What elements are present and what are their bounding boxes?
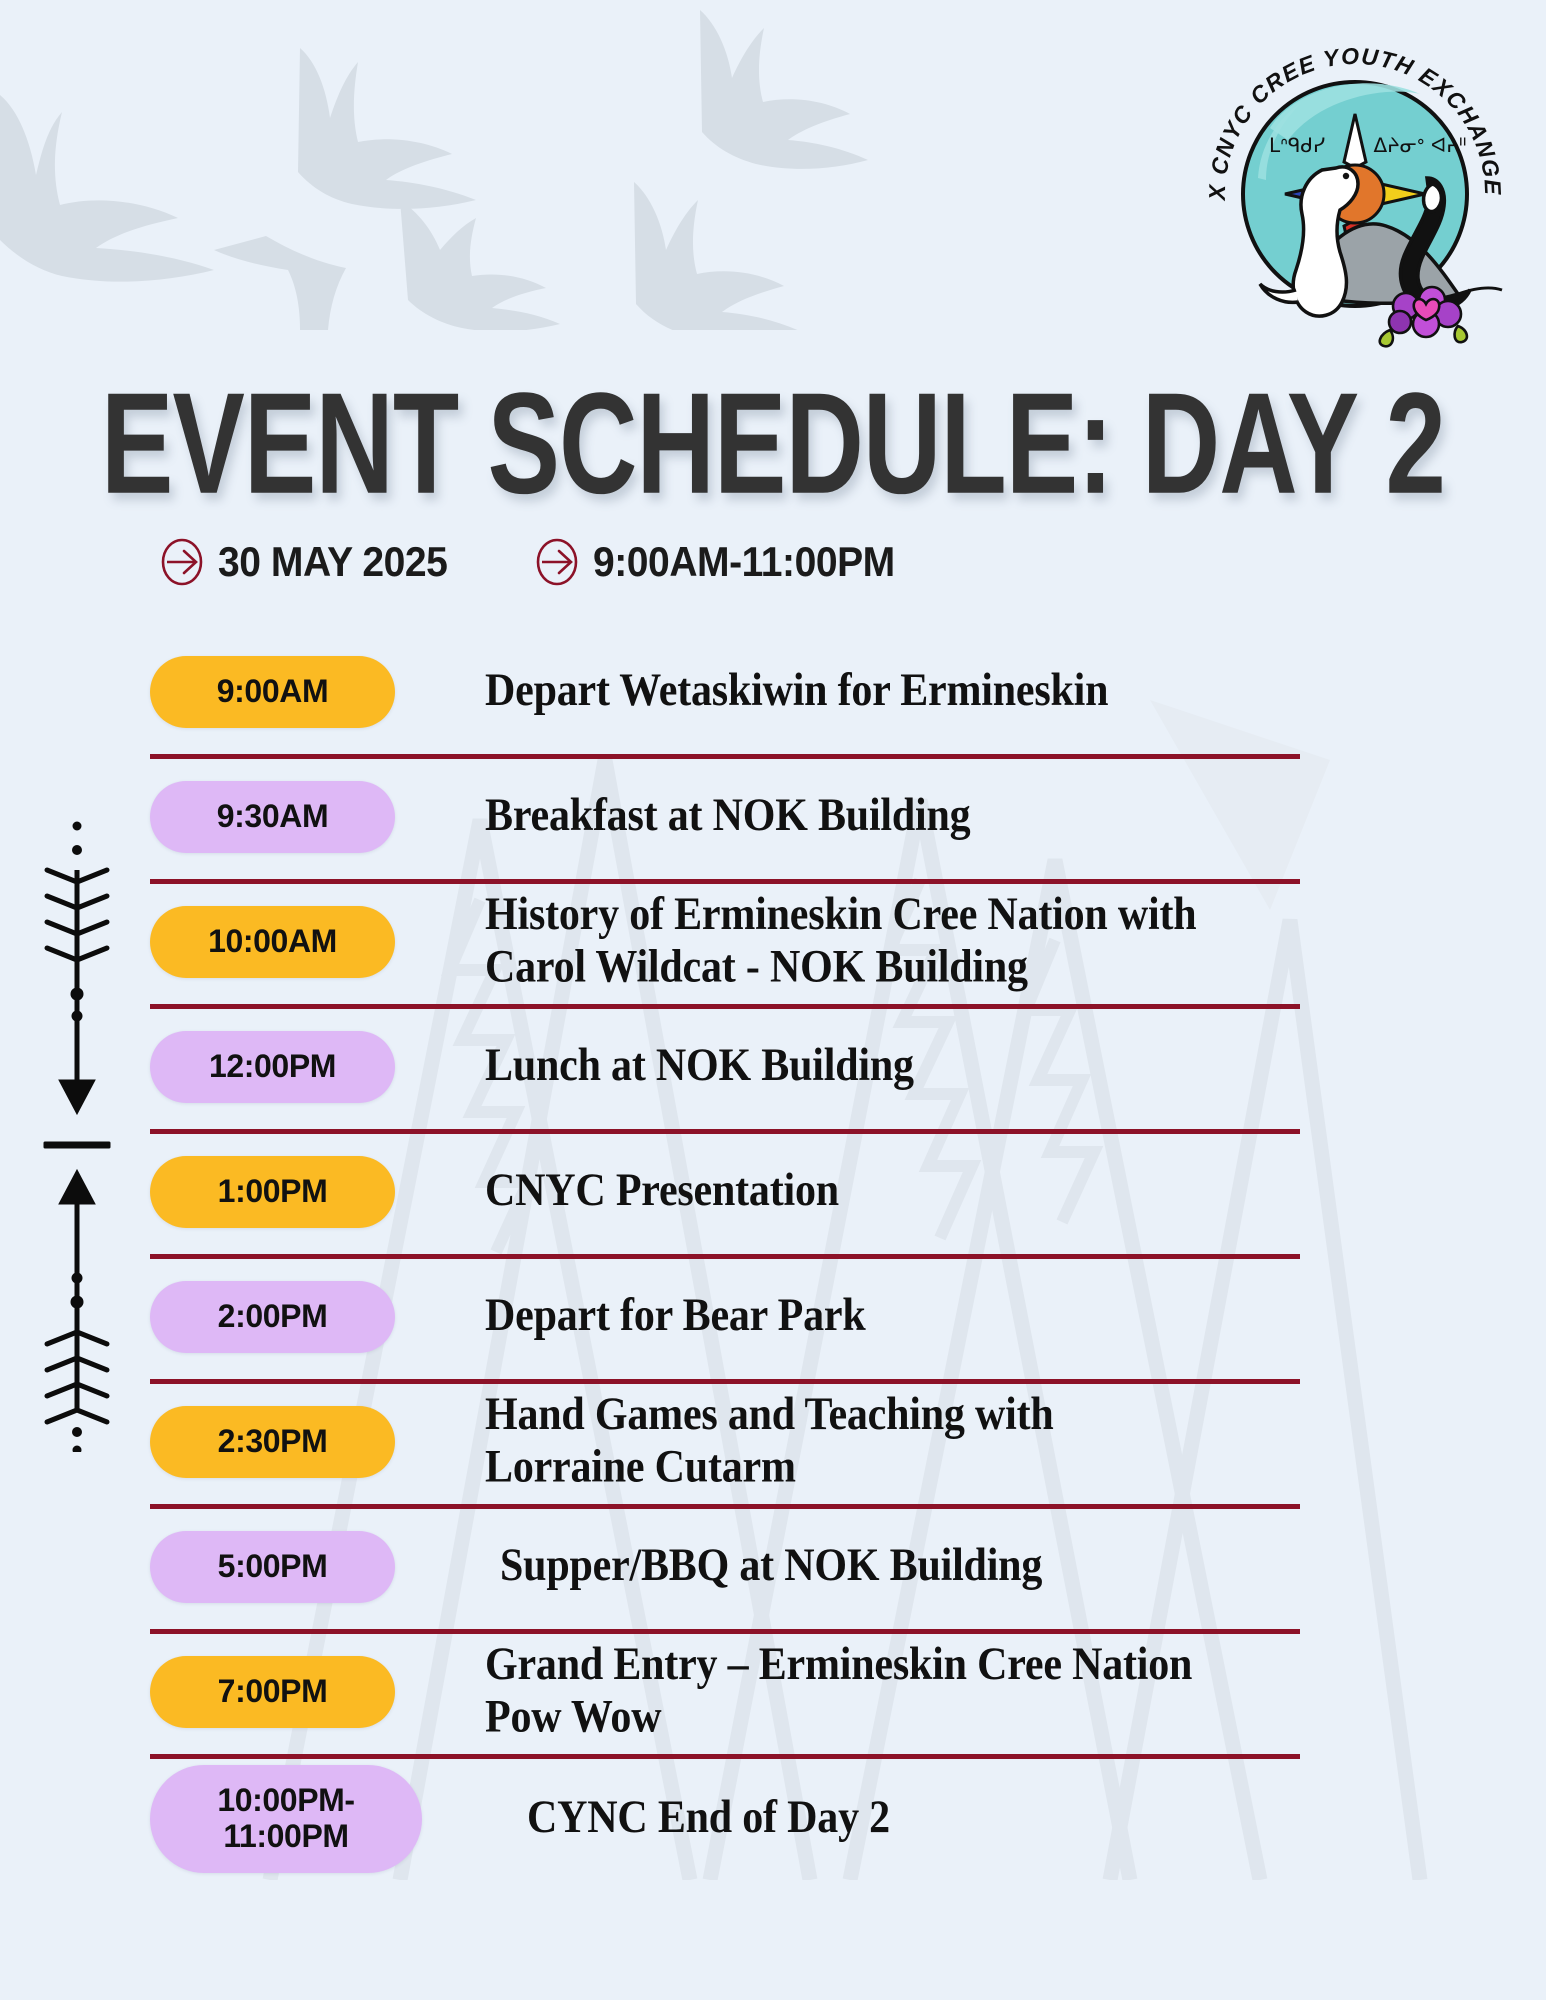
event-description: Breakfast at NOK Building <box>485 791 1300 844</box>
event-date-label: 30 MAY 2025 <box>218 538 447 586</box>
event-description: CYNC End of Day 2 <box>527 1792 1300 1845</box>
time-pill: 9:00AM <box>150 656 395 728</box>
time-pill: 10:00PM- 11:00PM <box>150 1765 422 1873</box>
time-pill: 1:00PM <box>150 1156 395 1228</box>
row-separator <box>150 1004 1300 1009</box>
schedule-row-inner: 2:30PMHand Games and Teaching with Lorra… <box>150 1390 1300 1494</box>
event-description: Depart Wetaskiwin for Ermineskin <box>485 666 1300 719</box>
event-meta-row: 30 MAY 2025 9:00AM-11:00PM <box>158 538 917 586</box>
row-separator <box>150 879 1300 884</box>
schedule-row-inner: 1:00PMCNYC Presentation <box>150 1140 1300 1244</box>
schedule-row: 9:00AMDepart Wetaskiwin for Ermineskin <box>150 640 1300 759</box>
flying-birds-silhouettes <box>0 0 900 330</box>
schedule-row: 5:00PMSupper/BBQ at NOK Building <box>150 1515 1300 1634</box>
event-description: Supper/BBQ at NOK Building <box>500 1541 1300 1594</box>
time-pill: 5:00PM <box>150 1531 395 1603</box>
schedule-row-inner: 10:00AMHistory of Ermineskin Cree Nation… <box>150 890 1300 994</box>
row-separator <box>150 1379 1300 1384</box>
row-separator <box>150 1504 1300 1509</box>
row-separator <box>150 1629 1300 1634</box>
double-arrow-ornament <box>22 812 132 1452</box>
event-date: 30 MAY 2025 <box>158 538 465 586</box>
schedule-row-inner: 5:00PMSupper/BBQ at NOK Building <box>150 1515 1300 1619</box>
event-description: Hand Games and Teaching with Lorraine Cu… <box>485 1389 1300 1494</box>
schedule-row-inner: 9:30AMBreakfast at NOK Building <box>150 765 1300 869</box>
row-separator <box>150 754 1300 759</box>
schedule-list: 9:00AMDepart Wetaskiwin for Ermineskin9:… <box>150 640 1300 1873</box>
time-pill: 12:00PM <box>150 1031 395 1103</box>
schedule-row: 10:00AMHistory of Ermineskin Cree Nation… <box>150 890 1300 1009</box>
row-separator <box>150 1129 1300 1134</box>
time-pill: 2:00PM <box>150 1281 395 1353</box>
schedule-row-inner: 9:00AMDepart Wetaskiwin for Ermineskin <box>150 640 1300 744</box>
event-description: Depart for Bear Park <box>485 1291 1300 1344</box>
circle-arrow-right-icon <box>533 538 581 586</box>
schedule-row: 2:00PMDepart for Bear Park <box>150 1265 1300 1384</box>
time-pill: 2:30PM <box>150 1406 395 1478</box>
time-pill: 9:30AM <box>150 781 395 853</box>
syllabics-right: ᐃᔨᓂᐤ ᐊᔨᐦ <box>1373 133 1466 157</box>
schedule-row: 10:00PM- 11:00PMCYNC End of Day 2 <box>150 1765 1300 1873</box>
event-description: History of Ermineskin Cree Nation with C… <box>485 889 1300 994</box>
row-separator <box>150 1754 1300 1759</box>
schedule-row-inner: 2:00PMDepart for Bear Park <box>150 1265 1300 1369</box>
event-logo: ᒪᐢᑫᑯᓯ ᐃᔨᓂᐤ ᐊᔨᐦ ECN X CNYC CREE YOUTH EXC… <box>1190 18 1520 348</box>
circle-arrow-right-icon <box>158 538 206 586</box>
event-description: Grand Entry – Ermineskin Cree Nation Pow… <box>485 1639 1300 1744</box>
event-time: 9:00AM-11:00PM <box>533 538 917 586</box>
schedule-row-inner: 12:00PMLunch at NOK Building <box>150 1015 1300 1119</box>
event-time-label: 9:00AM-11:00PM <box>593 538 895 586</box>
schedule-row: 7:00PMGrand Entry – Ermineskin Cree Nati… <box>150 1640 1300 1759</box>
schedule-row: 12:00PMLunch at NOK Building <box>150 1015 1300 1134</box>
event-description: CNYC Presentation <box>485 1166 1300 1219</box>
page-title: EVENT SCHEDULE: DAY 2 <box>62 372 1484 516</box>
schedule-row: 9:30AMBreakfast at NOK Building <box>150 765 1300 884</box>
row-separator <box>150 1254 1300 1259</box>
schedule-row-inner: 10:00PM- 11:00PMCYNC End of Day 2 <box>150 1765 1300 1873</box>
schedule-row: 1:00PMCNYC Presentation <box>150 1140 1300 1259</box>
time-pill: 7:00PM <box>150 1656 395 1728</box>
schedule-row-inner: 7:00PMGrand Entry – Ermineskin Cree Nati… <box>150 1640 1300 1744</box>
time-pill: 10:00AM <box>150 906 395 978</box>
schedule-row: 2:30PMHand Games and Teaching with Lorra… <box>150 1390 1300 1509</box>
syllabics-left: ᒪᐢᑫᑯᓯ <box>1269 133 1325 157</box>
event-description: Lunch at NOK Building <box>485 1041 1300 1094</box>
title-block: EVENT SCHEDULE: DAY 2 <box>0 372 1546 490</box>
